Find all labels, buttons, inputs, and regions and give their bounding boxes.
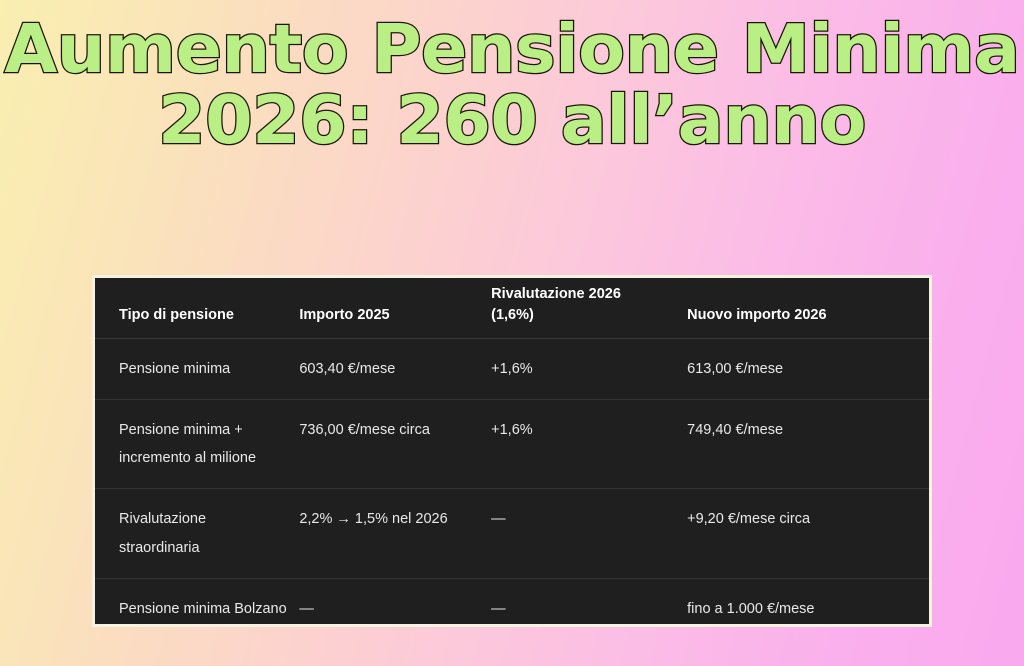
- table-row: Pensione minima + incremento al milione …: [95, 399, 929, 489]
- cell-rivalutazione: —: [491, 489, 687, 579]
- infographic-canvas: Aumento Pensione Minima 2026: 260 all’an…: [0, 0, 1024, 666]
- cell-nuovo-importo: fino a 1.000 €/mese: [687, 578, 929, 624]
- cell-nuovo-importo: 613,00 €/mese: [687, 338, 929, 399]
- table-row: Pensione minima 603,40 €/mese +1,6% 613,…: [95, 338, 929, 399]
- column-header-rivalutazione-line2: (1,6%): [491, 307, 534, 323]
- title-line-1: Aumento Pensione Minima: [0, 14, 1024, 85]
- cell-nuovo-importo: 749,40 €/mese: [687, 399, 929, 489]
- table-row: Rivalutazione straordinaria 2,2% → 1,5% …: [95, 489, 929, 579]
- column-header-importo-2025: Importo 2025: [299, 278, 491, 338]
- cell-importo-2025: 603,40 €/mese: [299, 338, 491, 399]
- title-line-2: 2026: 260 all’anno: [0, 85, 1024, 156]
- cell-tipo-pensione: Pensione minima + incremento al milione: [95, 399, 299, 489]
- cell-tipo-pensione: Rivalutazione straordinaria: [95, 489, 299, 579]
- cell-tipo-pensione: Pensione minima Bolzano: [95, 578, 299, 624]
- cell-rivalutazione: —: [491, 578, 687, 624]
- table-header: Tipo di pensione Importo 2025 Rivalutazi…: [95, 278, 929, 338]
- cell-tipo-pensione: Pensione minima: [95, 338, 299, 399]
- cell-rivalutazione: +1,6%: [491, 338, 687, 399]
- table-header-row: Tipo di pensione Importo 2025 Rivalutazi…: [95, 278, 929, 338]
- table-row: Pensione minima Bolzano — — fino a 1.000…: [95, 578, 929, 624]
- page-title: Aumento Pensione Minima 2026: 260 all’an…: [0, 14, 1024, 156]
- cell-nuovo-importo: +9,20 €/mese circa: [687, 489, 929, 579]
- table-body: Pensione minima 603,40 €/mese +1,6% 613,…: [95, 338, 929, 624]
- cell-importo-2025: 736,00 €/mese circa: [299, 399, 491, 489]
- column-header-nuovo-importo-2026: Nuovo importo 2026: [687, 278, 929, 338]
- pension-table-card: Tipo di pensione Importo 2025 Rivalutazi…: [95, 278, 929, 624]
- pension-comparison-table: Tipo di pensione Importo 2025 Rivalutazi…: [95, 278, 929, 624]
- column-header-rivalutazione-line1: Rivalutazione 2026: [491, 286, 621, 302]
- pension-table-frame: Tipo di pensione Importo 2025 Rivalutazi…: [92, 275, 932, 627]
- cell-importo-2025: 2,2% → 1,5% nel 2026: [299, 489, 491, 579]
- cell-rivalutazione: +1,6%: [491, 399, 687, 489]
- column-header-tipo-pensione: Tipo di pensione: [95, 278, 299, 338]
- cell-importo-2025: —: [299, 578, 491, 624]
- column-header-rivalutazione-2026: Rivalutazione 2026 (1,6%): [491, 278, 687, 338]
